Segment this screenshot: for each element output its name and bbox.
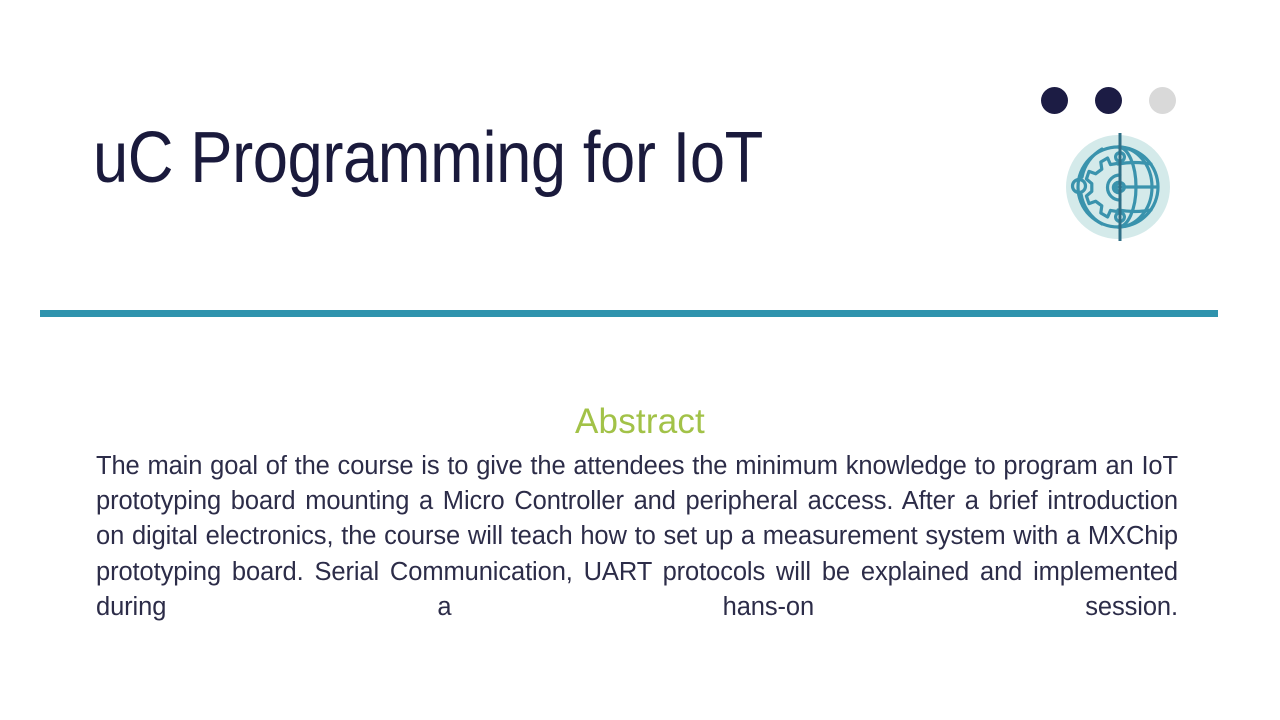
circle-dot-icon-1 — [1041, 87, 1068, 114]
abstract-body: The main goal of the course is to give t… — [96, 449, 1178, 660]
circle-dot-icon-2 — [1095, 87, 1122, 114]
page-title: uC Programming for IoT — [93, 112, 885, 204]
horizontal-divider — [40, 310, 1218, 317]
logo-cluster — [1036, 84, 1196, 264]
logo-dot-row — [1036, 84, 1196, 116]
gear-globe-icon — [1062, 131, 1174, 243]
abstract-paragraph: The main goal of the course is to give t… — [96, 449, 1178, 660]
circle-dot-icon-3 — [1149, 87, 1176, 114]
title-band: uC Programming for IoT — [0, 0, 1280, 300]
slide-canvas: uC Programming for IoT — [0, 0, 1280, 720]
abstract-heading: Abstract — [0, 401, 1280, 443]
